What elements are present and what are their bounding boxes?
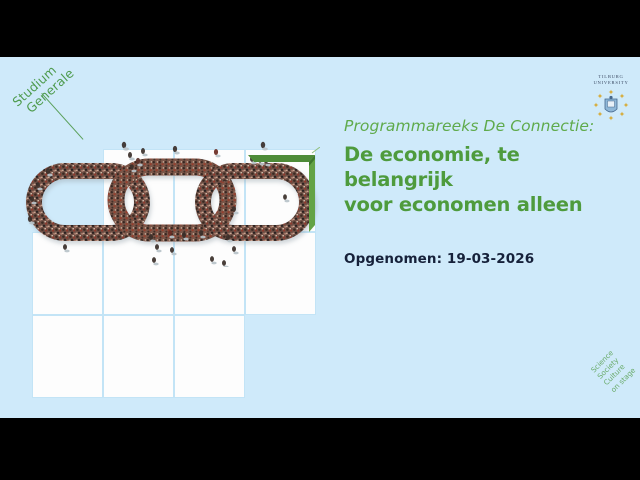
university-crest-wrap xyxy=(589,88,633,122)
grid-tile xyxy=(245,149,316,232)
studium-generale-wordmark: Studium Generale xyxy=(10,57,76,119)
tilburg-university-logo: TILBURG UNIVERSITY xyxy=(589,74,633,128)
tilburg-university-wordmark: TILBURG UNIVERSITY xyxy=(589,74,633,86)
grid-tile xyxy=(32,232,103,315)
grid-tile xyxy=(174,315,245,398)
university-crest-icon xyxy=(589,88,633,122)
grid-tile xyxy=(245,232,316,315)
studium-generale-slash-line xyxy=(41,93,83,140)
photo-tile-grid xyxy=(0,137,330,377)
letterbox-top xyxy=(0,0,640,57)
university-seal xyxy=(605,96,617,112)
page-title: De economie, te belangrijk voor economen… xyxy=(344,142,626,217)
headline-line-1: De economie, te belangrijk xyxy=(344,142,626,192)
slide-text-block: Programmareeks De Connectie: De economie… xyxy=(344,116,626,267)
grid-tile xyxy=(103,149,174,232)
slide-canvas: Studium Generale xyxy=(0,57,640,418)
grid-tile xyxy=(103,232,174,315)
science-society-culture-tagline: Science Society Culture on stage xyxy=(587,364,640,418)
grid-tile xyxy=(174,232,245,315)
grid-tile xyxy=(174,149,245,232)
grid-tile xyxy=(103,315,174,398)
headline-line-2: voor economen alleen xyxy=(344,192,626,217)
letterbox-bottom xyxy=(0,418,640,480)
university-name-line-2: UNIVERSITY xyxy=(589,80,633,86)
grid-tile xyxy=(32,315,103,398)
series-eyebrow: Programmareeks De Connectie: xyxy=(344,116,626,136)
video-frame: Studium Generale xyxy=(0,0,640,480)
recorded-date-label: Opgenomen: 19-03-2026 xyxy=(344,251,626,267)
